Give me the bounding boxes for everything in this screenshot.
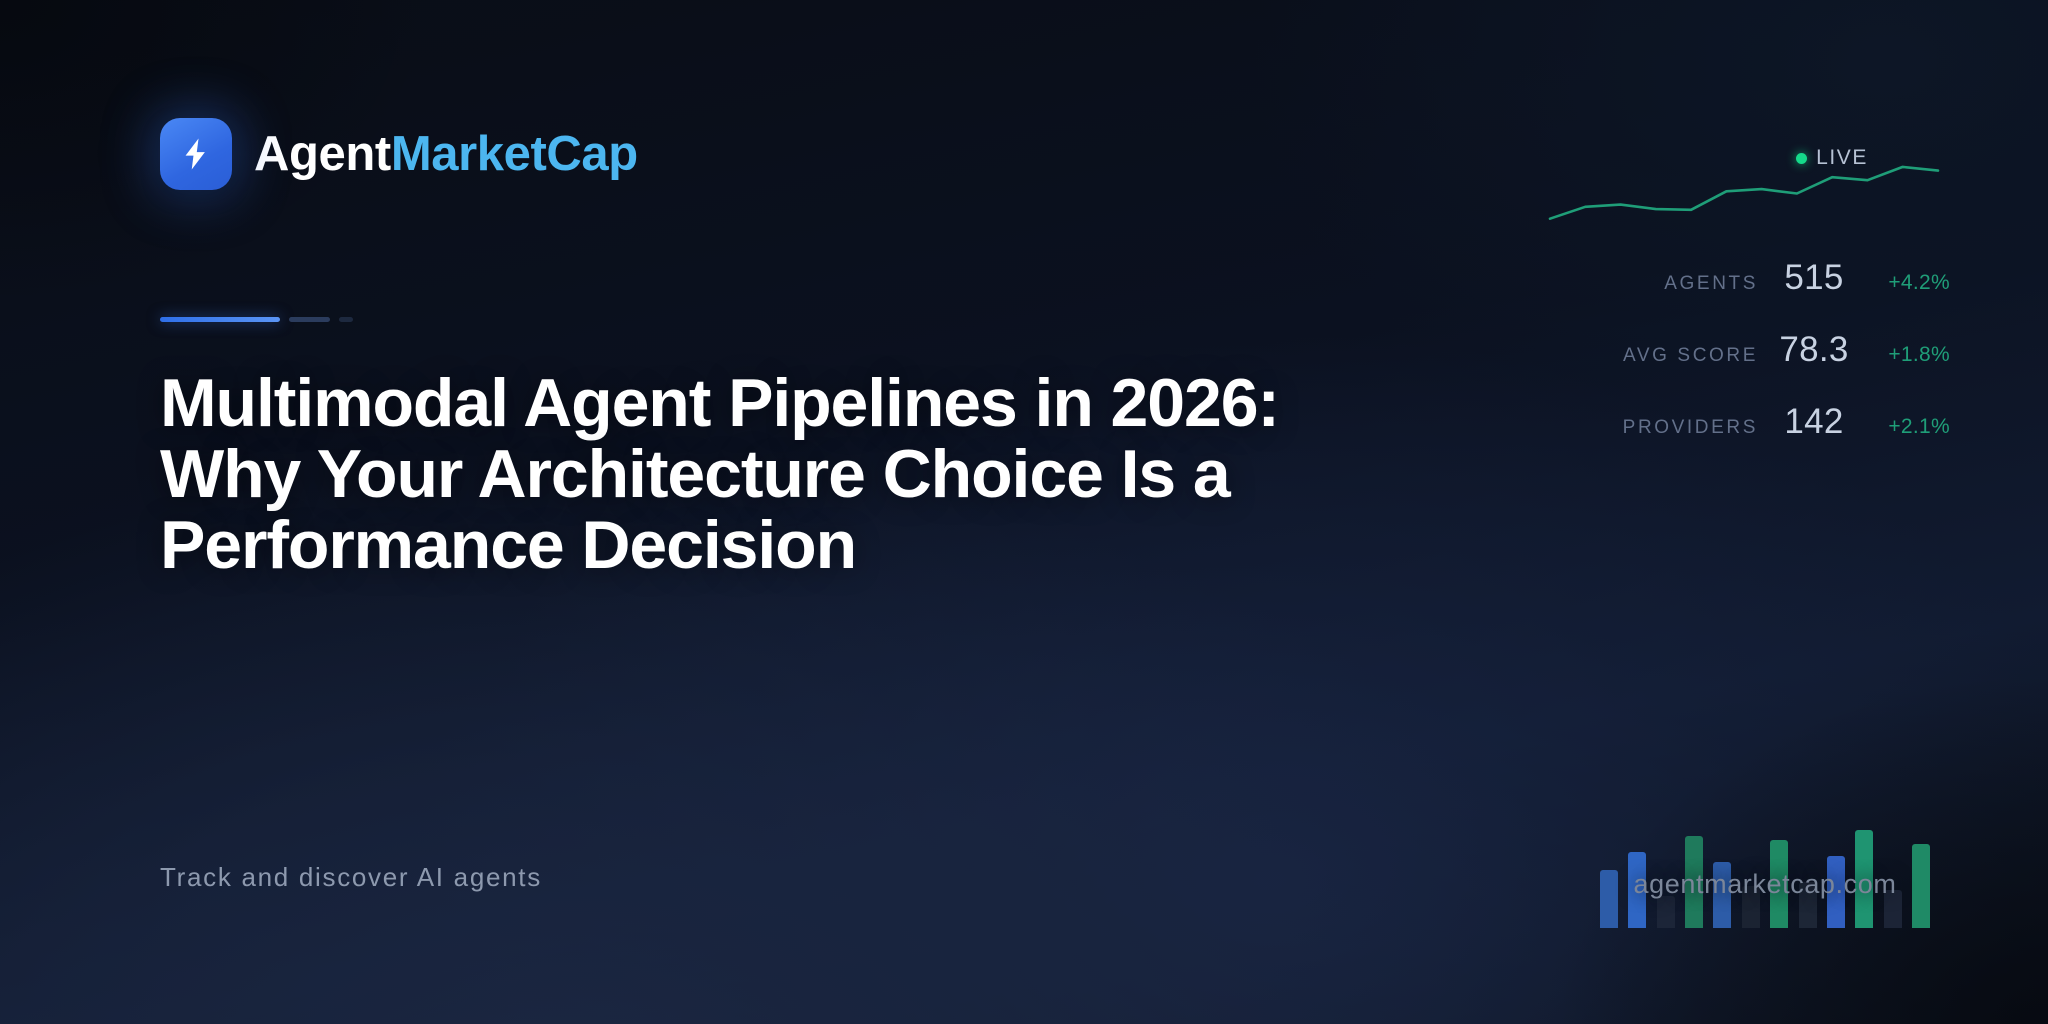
tagline: Track and discover AI agents <box>160 862 542 893</box>
stat-row-avg-score: AVG SCORE 78.3 +1.8% <box>1590 330 1930 402</box>
stat-row-agents: AGENTS 515 +4.2% <box>1590 258 1930 330</box>
accent-bar-1 <box>160 317 280 322</box>
live-indicator: LIVE <box>1796 146 1868 170</box>
accent-bar-2 <box>289 317 330 322</box>
lightning-bolt-icon <box>160 118 232 190</box>
sparkline-svg <box>1542 140 1942 250</box>
stat-label: AGENTS <box>1590 273 1758 295</box>
brand-wordmark: AgentMarketCap <box>254 130 638 179</box>
stat-row-providers: PROVIDERS 142 +2.1% <box>1590 402 1930 474</box>
live-sparkline-chart: LIVE <box>1590 140 1930 250</box>
footer-bar <box>1657 896 1675 928</box>
live-status-dot <box>1796 153 1807 164</box>
brand-logo[interactable]: AgentMarketCap <box>160 118 638 190</box>
stat-list: AGENTS 515 +4.2% AVG SCORE 78.3 +1.8% PR… <box>1590 258 1930 474</box>
brand-name-secondary: MarketCap <box>391 127 638 181</box>
accent-progress-bars <box>160 317 353 322</box>
stat-value: 515 <box>1768 258 1860 298</box>
stat-delta: +1.8% <box>1870 343 1950 367</box>
accent-bar-3 <box>339 317 353 322</box>
stat-value: 78.3 <box>1768 330 1860 370</box>
sparkline-path <box>1550 167 1938 219</box>
stat-delta: +2.1% <box>1870 415 1950 439</box>
stat-label: AVG SCORE <box>1590 345 1758 367</box>
stat-label: PROVIDERS <box>1590 417 1758 439</box>
stat-delta: +4.2% <box>1870 271 1950 295</box>
stats-panel: LIVE AGENTS 515 +4.2% AVG SCORE 78.3 +1.… <box>1590 140 1930 474</box>
brand-name-primary: Agent <box>254 127 391 181</box>
footer-domain: agentmarketcap.com <box>1600 869 1930 900</box>
footer-domain-block: agentmarketcap.com <box>1600 808 1930 928</box>
page-title: Multimodal Agent Pipelines in 2026: Why … <box>160 368 1430 581</box>
social-card: AgentMarketCap Multimodal Agent Pipeline… <box>0 0 2048 1024</box>
live-label: LIVE <box>1816 146 1868 170</box>
stat-value: 142 <box>1768 402 1860 442</box>
